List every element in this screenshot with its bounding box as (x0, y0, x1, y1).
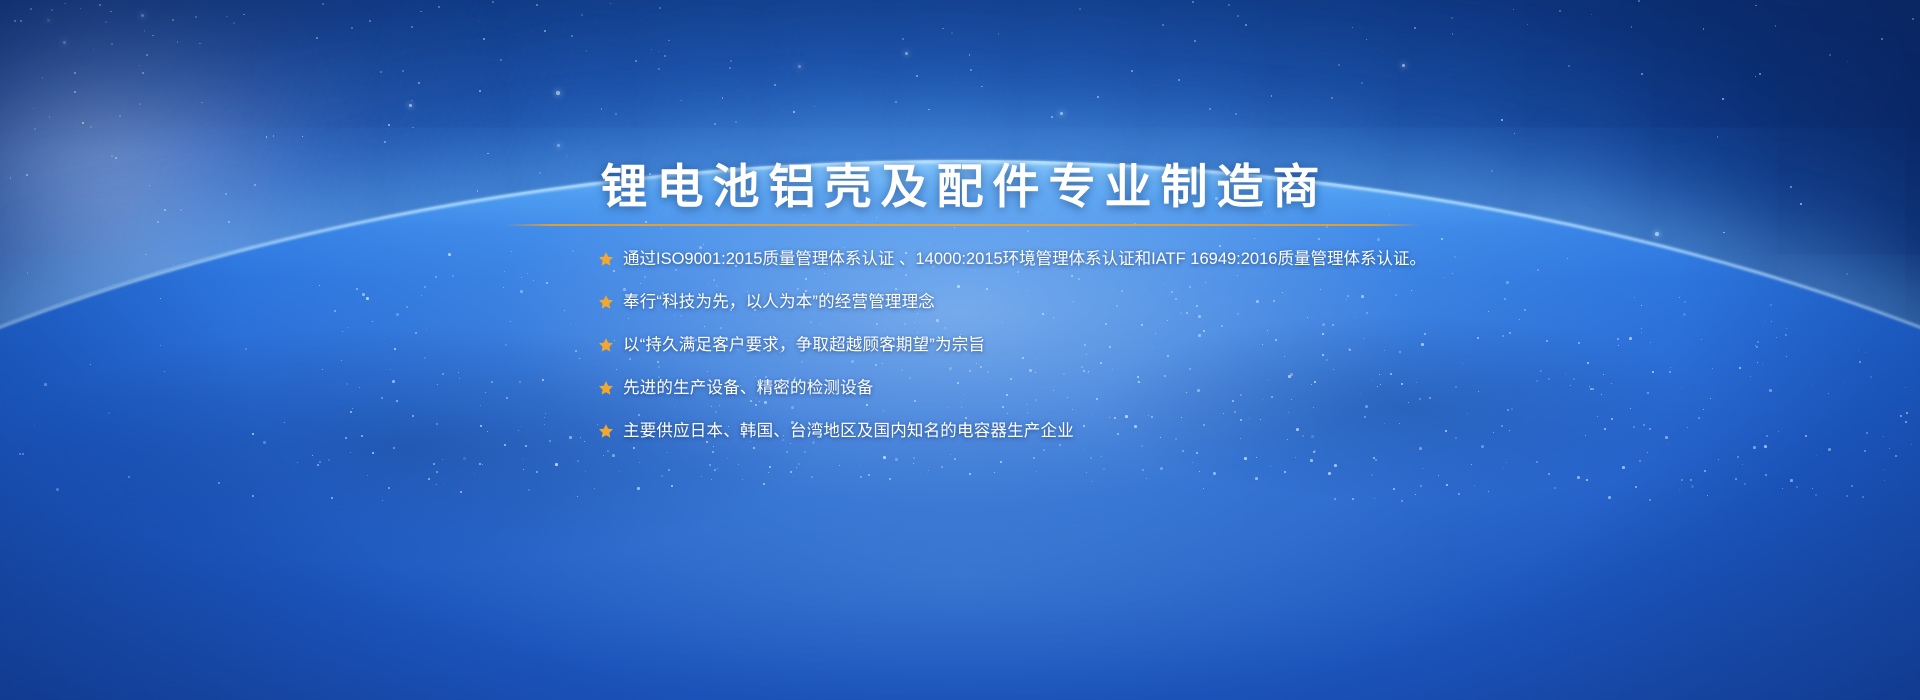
feature-bullet-item: 主要供应日本、韩国、台湾地区及国内知名的电容器生产企业 (598, 420, 1478, 443)
star-icon (598, 423, 614, 439)
banner-content: 锂电池铝壳及配件专业制造商 通过ISO9001:2015质量管理体系认证 、14… (0, 0, 1920, 700)
star-icon (598, 380, 614, 396)
feature-bullet-item: 以“持久满足客户要求，争取超越顾客期望”为宗旨 (598, 334, 1478, 357)
title-divider (505, 224, 1420, 226)
banner-title: 锂电池铝壳及配件专业制造商 (0, 159, 1920, 215)
hero-banner: 锂电池铝壳及配件专业制造商 通过ISO9001:2015质量管理体系认证 、14… (0, 0, 1920, 700)
feature-bullet-item: 先进的生产设备、精密的检测设备 (598, 377, 1478, 400)
feature-bullet-item: 奉行“科技为先，以人为本”的经营管理理念 (598, 291, 1478, 314)
feature-bullet-item: 通过ISO9001:2015质量管理体系认证 、14000:2015环境管理体系… (598, 248, 1478, 271)
feature-bullet-text: 以“持久满足客户要求，争取超越顾客期望”为宗旨 (623, 334, 985, 357)
feature-bullet-text: 先进的生产设备、精密的检测设备 (623, 377, 874, 400)
feature-bullet-text: 奉行“科技为先，以人为本”的经营管理理念 (623, 291, 935, 314)
star-icon (598, 251, 614, 267)
feature-bullet-text: 主要供应日本、韩国、台湾地区及国内知名的电容器生产企业 (623, 420, 1074, 443)
feature-bullet-text: 通过ISO9001:2015质量管理体系认证 、14000:2015环境管理体系… (623, 248, 1426, 271)
star-icon (598, 294, 614, 310)
star-icon (598, 337, 614, 353)
feature-bullet-list: 通过ISO9001:2015质量管理体系认证 、14000:2015环境管理体系… (598, 248, 1478, 443)
